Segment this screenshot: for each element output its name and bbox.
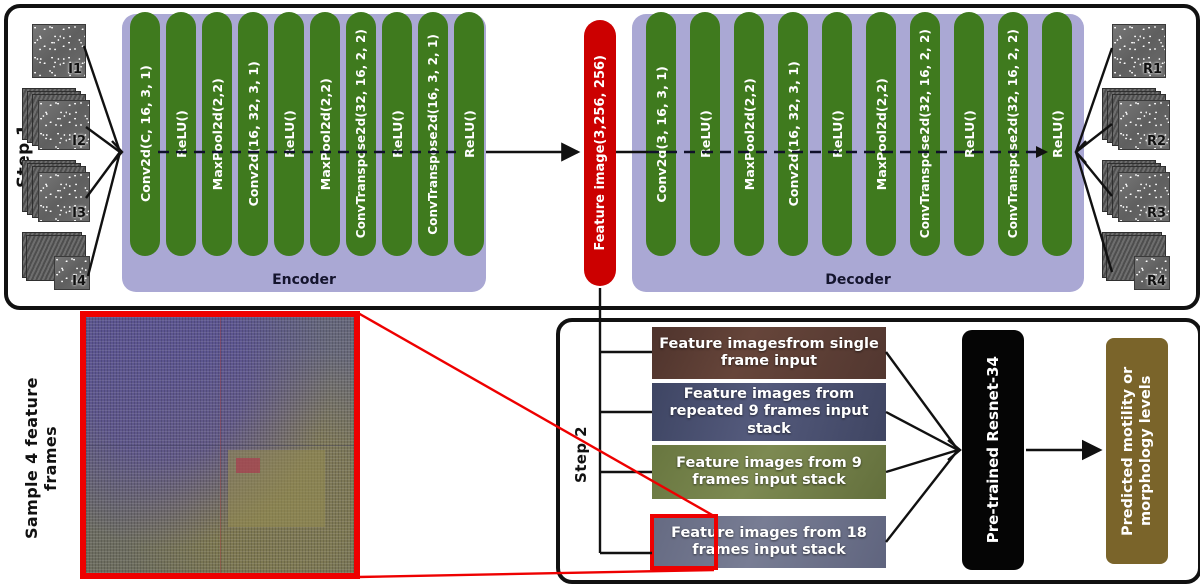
- encoder-layer-4[interactable]: ReLU(): [274, 12, 304, 256]
- encoder-layer-7-label: ReLU(): [390, 110, 405, 158]
- diagram-canvas: Step 1 I1 I2 I3 I4 Encoder Conv2d(C, 16,…: [0, 0, 1200, 584]
- encoder-layer-8[interactable]: ConvTranspose2d(16, 3, 2, 1): [418, 12, 448, 256]
- sample-frames-label: Sample 4 feature frames: [22, 358, 60, 558]
- output-r2-label: R2: [1147, 134, 1166, 149]
- decoder-layer-2-label: MaxPool2d(2,2): [742, 78, 757, 190]
- input-thumbnail-i4: I4: [22, 232, 90, 290]
- output-thumbnail-r1: R1: [1110, 22, 1166, 78]
- encoder-layer-5-label: MaxPool2d(2,2): [318, 78, 333, 190]
- decoder-layer-7-label: ReLU(): [962, 110, 977, 158]
- input-thumbnail-i2: I2: [22, 88, 90, 150]
- pretrained-resnet34-label: Pre-trained Resnet-34: [984, 356, 1003, 543]
- output-r1-label: R1: [1143, 62, 1162, 77]
- input-i4-label: I4: [72, 274, 86, 289]
- decoder-layer-3[interactable]: Conv2d(16, 32, 3, 1): [778, 12, 808, 256]
- decoder-layer-5[interactable]: MaxPool2d(2,2): [866, 12, 896, 256]
- decoder-layer-0[interactable]: Conv2d(3, 16, 3, 1): [646, 12, 676, 256]
- encoder-layer-0-label: Conv2d(C, 16, 3, 1): [138, 65, 153, 202]
- decoder-layer-4-label: ReLU(): [830, 110, 845, 158]
- encoder-layer-9-label: ReLU(): [462, 110, 477, 158]
- encoder-layer-2[interactable]: MaxPool2d(2,2): [202, 12, 232, 256]
- decoder-layer-1-label: ReLU(): [698, 110, 713, 158]
- encoder-caption: Encoder: [122, 272, 486, 288]
- decoder-layer-1[interactable]: ReLU(): [690, 12, 720, 256]
- decoder-layer-7[interactable]: ReLU(): [954, 12, 984, 256]
- pretrained-resnet34-box[interactable]: Pre-trained Resnet-34: [962, 330, 1024, 570]
- input-i3-label: I3: [72, 206, 86, 221]
- decoder-layer-9-label: ReLU(): [1050, 110, 1065, 158]
- decoder-layer-3-label: Conv2d(16, 32, 3, 1): [786, 61, 801, 206]
- feature-image-label: Feature image(3,256, 256): [593, 55, 608, 251]
- encoder-layer-3[interactable]: Conv2d(16, 32, 3, 1): [238, 12, 268, 256]
- decoder-layer-6-label: ConvTranspose2d(32, 16, 2, 2): [918, 29, 932, 238]
- encoder-layer-8-label: ConvTranspose2d(16, 3, 2, 1): [426, 34, 440, 235]
- encoder-layer-1[interactable]: ReLU(): [166, 12, 196, 256]
- feature-box-9-frames[interactable]: Feature images from 9 frames input stack: [652, 445, 886, 499]
- input-i1-label: I1: [68, 62, 82, 77]
- decoder-layer-2[interactable]: MaxPool2d(2,2): [734, 12, 764, 256]
- encoder-layer-4-label: ReLU(): [282, 110, 297, 158]
- feature-box-18-frames-highlight: [650, 514, 718, 570]
- encoder-layer-0[interactable]: Conv2d(C, 16, 3, 1): [130, 12, 160, 256]
- encoder-layer-3-label: Conv2d(16, 32, 3, 1): [246, 61, 261, 206]
- output-thumbnail-r2: R2: [1102, 88, 1170, 150]
- prediction-output-box[interactable]: Predicted motility or morphology levels: [1106, 338, 1168, 564]
- decoder-layer-8-label: ConvTranspose2d(32, 16, 2, 2): [1006, 29, 1020, 238]
- decoder-layer-6[interactable]: ConvTranspose2d(32, 16, 2, 2): [910, 12, 940, 256]
- encoder-layer-9[interactable]: ReLU(): [454, 12, 484, 256]
- input-thumbnail-i1: I1: [30, 22, 86, 78]
- sample-frame-highlight: [236, 458, 260, 473]
- input-thumbnail-i3: I3: [22, 160, 90, 222]
- encoder-layer-7[interactable]: ReLU(): [382, 12, 412, 256]
- output-thumbnail-r4: R4: [1102, 232, 1170, 290]
- decoder-layer-9[interactable]: ReLU(): [1042, 12, 1072, 256]
- output-r3-label: R3: [1147, 206, 1166, 221]
- decoder-layer-5-label: MaxPool2d(2,2): [874, 78, 889, 190]
- encoder-layer-5[interactable]: MaxPool2d(2,2): [310, 12, 340, 256]
- decoder-layer-4[interactable]: ReLU(): [822, 12, 852, 256]
- prediction-output-label: Predicted motility or morphology levels: [1119, 338, 1155, 564]
- decoder-layer-8[interactable]: ConvTranspose2d(32, 16, 2, 2): [998, 12, 1028, 256]
- encoder-layer-1-label: ReLU(): [174, 110, 189, 158]
- decoder-caption: Decoder: [632, 272, 1084, 288]
- output-thumbnail-r3: R3: [1102, 160, 1170, 222]
- encoder-layer-6-label: ConvTranspose2d(32, 16, 2, 2): [354, 29, 368, 238]
- encoder-layer-2-label: MaxPool2d(2,2): [210, 78, 225, 190]
- step2-label: Step 2: [572, 415, 590, 495]
- output-r4-label: R4: [1147, 274, 1166, 289]
- sample-frame-divider-horizontal: [86, 445, 354, 446]
- input-i2-label: I2: [72, 134, 86, 149]
- decoder-layer-0-label: Conv2d(3, 16, 3, 1): [654, 66, 669, 203]
- feature-image-node[interactable]: Feature image(3,256, 256): [584, 20, 616, 286]
- sample-feature-frame-image: [80, 311, 360, 579]
- feature-box-repeated-9-frames[interactable]: Feature images from repeated 9 frames in…: [652, 383, 886, 441]
- feature-box-single-frame[interactable]: Feature imagesfrom single frame input: [652, 327, 886, 379]
- encoder-layer-6[interactable]: ConvTranspose2d(32, 16, 2, 2): [346, 12, 376, 256]
